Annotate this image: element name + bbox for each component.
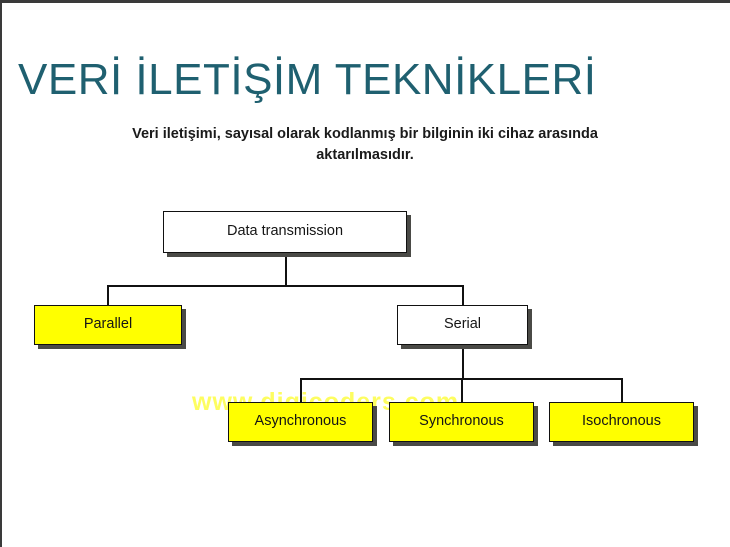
- node-serial[interactable]: Serial: [397, 305, 528, 345]
- node-synchronous[interactable]: Synchronous: [389, 402, 534, 442]
- data-transmission-tree-diagram: www.digicoders.com Data transmission Par…: [0, 0, 730, 547]
- connector-root-stem: [285, 253, 287, 285]
- node-parallel[interactable]: Parallel: [34, 305, 182, 345]
- node-label: Isochronous: [582, 413, 661, 430]
- node-label: Data transmission: [227, 223, 343, 240]
- node-label: Asynchronous: [255, 413, 347, 430]
- connector-to-synchronous: [461, 378, 463, 402]
- connector-to-isochronous: [621, 378, 623, 402]
- connector-to-asynchronous: [300, 378, 302, 402]
- connector-serial-stem: [462, 345, 464, 378]
- node-isochronous[interactable]: Isochronous: [549, 402, 694, 442]
- connector-to-parallel: [107, 285, 109, 307]
- node-label: Serial: [444, 316, 481, 333]
- node-asynchronous[interactable]: Asynchronous: [228, 402, 373, 442]
- connector-level1-bus: [107, 285, 463, 287]
- node-data-transmission[interactable]: Data transmission: [163, 211, 407, 253]
- slide: VERİ İLETİŞİM TEKNİKLERİ Veri iletişimi,…: [0, 0, 730, 547]
- node-label: Synchronous: [419, 413, 504, 430]
- connector-to-serial: [462, 285, 464, 307]
- node-label: Parallel: [84, 316, 132, 333]
